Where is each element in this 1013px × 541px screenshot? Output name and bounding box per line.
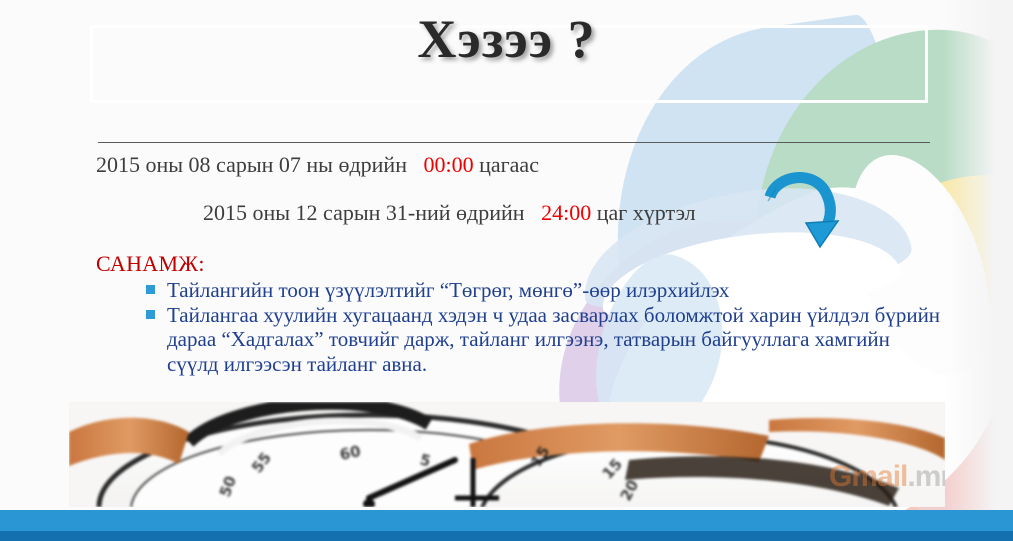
- stopwatch-photo: 55 50 60 5 15 15 20 Gmail.mn: [69, 402, 945, 507]
- stopwatch-photo-artwork: 55 50 60 5 15 15 20: [69, 402, 945, 507]
- end-date-text: 2015 оны 12 сарын 31-ний өдрийн: [203, 200, 525, 225]
- start-time-value: 00:00: [423, 152, 473, 177]
- square-bullet-icon: [146, 285, 155, 294]
- note-bullet-list: Тайлангийн тоон үзүүлэлтийг “Төгрөг, мөн…: [146, 278, 946, 376]
- end-time-value: 24:00: [541, 200, 591, 225]
- list-item: Тайлангаа хуулийн хугацаанд хэдэн ч удаа…: [146, 303, 946, 377]
- end-date-line: 2015 оны 12 сарын 31-ний өдрийн 24:00 ца…: [203, 200, 696, 226]
- presentation-slide: Хэзээ ? 2015 оны 08 сарын 07 ны өдрийн 0…: [0, 0, 1013, 541]
- right-edge-fade: [943, 0, 1013, 541]
- title-divider: [98, 142, 930, 143]
- footer-bar-dark: [0, 531, 1013, 541]
- start-date-suffix: цагаас: [479, 152, 539, 177]
- page-title: Хэзээ ?: [0, 8, 1013, 70]
- note-heading: САНАМЖ:: [96, 251, 205, 277]
- list-item: Тайлангийн тоон үзүүлэлтийг “Төгрөг, мөн…: [146, 278, 946, 303]
- end-date-suffix: цаг хүртэл: [597, 200, 696, 225]
- square-bullet-icon: [146, 310, 155, 319]
- watermark-suffix: .mn: [907, 460, 945, 493]
- list-item-label: Тайлангаа хуулийн хугацаанд хэдэн ч удаа…: [167, 303, 946, 377]
- start-date-line: 2015 оны 08 сарын 07 ны өдрийн 00:00 цаг…: [96, 152, 539, 178]
- watermark-main: Gmail: [829, 460, 907, 493]
- curved-arrow-icon: [762, 167, 872, 252]
- photo-watermark: Gmail.mn: [829, 460, 945, 494]
- list-item-label: Тайлангийн тоон үзүүлэлтийг “Төгрөг, мөн…: [167, 278, 946, 303]
- footer-bar-light: [0, 510, 1013, 531]
- start-date-text: 2015 оны 08 сарын 07 ны өдрийн: [96, 152, 407, 177]
